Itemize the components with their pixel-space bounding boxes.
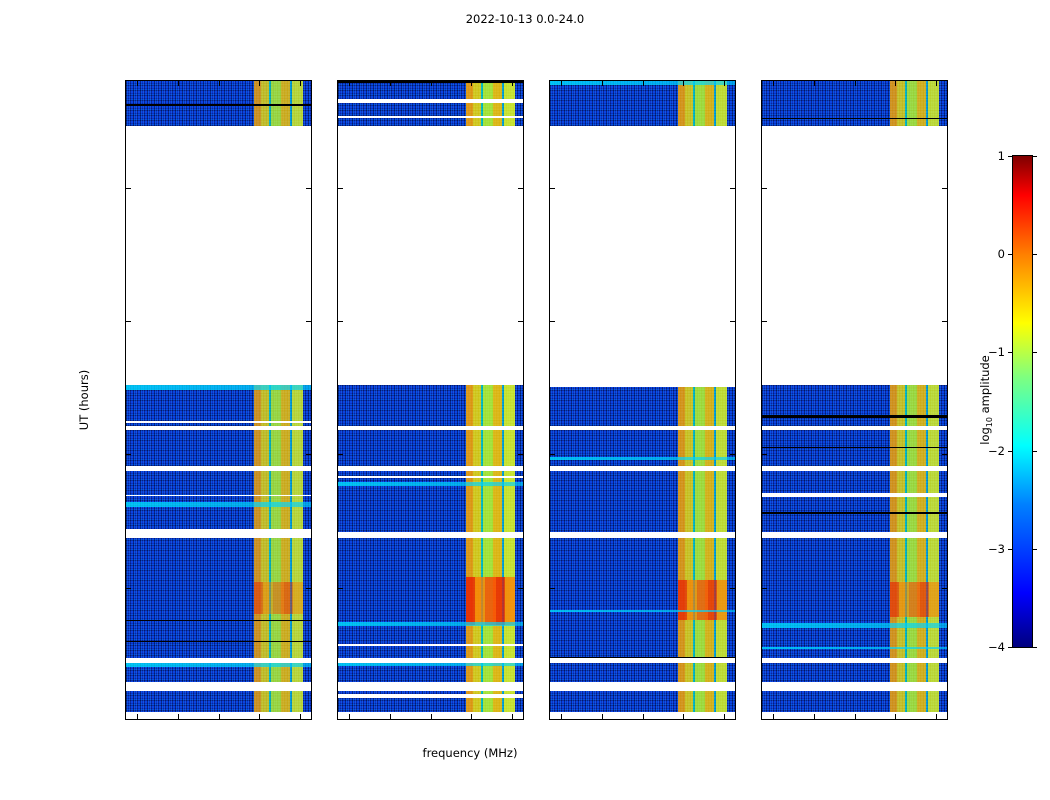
bright-scan-row xyxy=(550,457,735,461)
panel-yx[interactable]: YX, V4*V17=EA03*EA21 0510152032033535036… xyxy=(761,80,948,720)
no-data-region xyxy=(338,126,523,385)
y-tick-right-10 xyxy=(518,454,524,455)
flagged-gap-wide xyxy=(338,466,523,471)
x-tick-top-335 xyxy=(814,80,815,86)
data-block xyxy=(338,81,523,126)
x-tick-320 xyxy=(137,714,138,720)
flagged-gap-wide xyxy=(550,466,735,471)
colorbar-label: log10 amplitude xyxy=(978,355,994,445)
y-tick-10 xyxy=(125,454,131,455)
flagged-gap xyxy=(762,493,947,497)
colorbar-tick-0 xyxy=(1008,254,1013,255)
bright-scan-row xyxy=(126,385,311,390)
colorbar-tick-1 xyxy=(1008,156,1013,157)
colorbar-tick--2 xyxy=(1008,451,1013,452)
y-tick-5 xyxy=(125,588,131,589)
x-tick-top-335 xyxy=(390,80,391,86)
data-block xyxy=(126,385,311,720)
colorbar-label-tail: amplitude xyxy=(978,355,992,417)
rfi-hotspot xyxy=(466,577,515,625)
x-tick-top-350 xyxy=(643,80,644,86)
colorbar-tick--4 xyxy=(1008,647,1013,648)
x-tick-335 xyxy=(390,714,391,720)
flagged-gap xyxy=(338,644,523,647)
y-tick-right-5 xyxy=(730,588,736,589)
flagged-gap-wide xyxy=(126,658,311,663)
y-tick-5 xyxy=(337,588,343,589)
x-tick-365 xyxy=(895,714,896,720)
y-axis-label: UT (hours) xyxy=(77,370,91,430)
panel-xx-spectrogram xyxy=(126,81,311,720)
rfi-band xyxy=(466,385,515,720)
y-tick-right-10 xyxy=(730,454,736,455)
scan-boundary xyxy=(762,118,947,119)
flagged-gap-wide xyxy=(338,682,523,691)
flagged-gap-wide xyxy=(126,466,311,471)
y-tick-20 xyxy=(549,188,555,189)
y-tick-right-20 xyxy=(942,188,948,189)
y-tick-right-15 xyxy=(518,321,524,322)
no-data-region xyxy=(126,126,311,385)
x-tick-top-335 xyxy=(178,80,179,86)
y-tick-right-10 xyxy=(306,454,312,455)
x-tick-top-350 xyxy=(855,80,856,86)
x-tick-top-320 xyxy=(137,80,138,86)
y-tick-right-5 xyxy=(518,588,524,589)
bright-scan-row xyxy=(338,482,523,486)
x-tick-365 xyxy=(259,714,260,720)
data-block xyxy=(550,385,735,720)
colorbar-tick-label-0: 0 xyxy=(998,247,1005,261)
rfi-band xyxy=(254,385,303,720)
flagged-gap-wide xyxy=(762,532,947,538)
colorbar-tick-right--2 xyxy=(1032,451,1037,452)
y-tick-10 xyxy=(549,454,555,455)
x-tick-380 xyxy=(512,714,513,720)
colorbar-tick-right-1 xyxy=(1032,156,1037,157)
flagged-gap-wide xyxy=(338,658,523,663)
scan-boundary xyxy=(126,641,311,642)
scan-boundary xyxy=(762,415,947,417)
y-tick-right-5 xyxy=(306,588,312,589)
x-axis-label: frequency (MHz) xyxy=(0,746,940,760)
x-tick-top-365 xyxy=(471,80,472,86)
scan-boundary xyxy=(762,447,947,449)
flagged-gap xyxy=(550,385,735,387)
y-tick-15 xyxy=(125,321,131,322)
x-tick-top-335 xyxy=(602,80,603,86)
flagged-gap-wide xyxy=(126,426,311,430)
flagged-gap-wide xyxy=(338,426,523,430)
x-tick-350 xyxy=(643,714,644,720)
y-tick-15 xyxy=(549,321,555,322)
x-tick-top-365 xyxy=(683,80,684,86)
x-tick-365 xyxy=(683,714,684,720)
bright-scan-row xyxy=(338,663,523,666)
colorbar-tick-right--3 xyxy=(1032,549,1037,550)
x-tick-320 xyxy=(773,714,774,720)
no-data-region xyxy=(550,126,735,385)
flagged-gap xyxy=(338,694,523,699)
colorbar-tick-label--3: −3 xyxy=(988,542,1005,556)
colorbar[interactable]: 10−1−2−3−4 xyxy=(1012,155,1033,648)
flagged-gap xyxy=(338,116,523,118)
x-tick-335 xyxy=(602,714,603,720)
x-tick-top-380 xyxy=(936,80,937,86)
y-tick-15 xyxy=(337,321,343,322)
colorbar-tick--1 xyxy=(1008,352,1013,353)
x-tick-380 xyxy=(300,714,301,720)
colorbar-tick-label--2: −2 xyxy=(988,444,1005,458)
colorbar-tick-right-0 xyxy=(1032,254,1037,255)
bright-scan-row xyxy=(550,610,735,612)
scan-boundary xyxy=(126,620,311,621)
data-block xyxy=(762,81,947,126)
flagged-gap-wide xyxy=(126,532,311,538)
y-tick-20 xyxy=(337,188,343,189)
colorbar-tick-label--4: −4 xyxy=(988,640,1005,654)
bright-scan-row xyxy=(126,502,311,507)
x-tick-350 xyxy=(431,714,432,720)
rfi-band xyxy=(678,385,727,720)
flagged-gap xyxy=(126,421,311,424)
y-tick-right-20 xyxy=(730,188,736,189)
y-tick-20 xyxy=(761,188,767,189)
y-tick-5 xyxy=(549,588,555,589)
x-tick-top-380 xyxy=(300,80,301,86)
y-tick-right-15 xyxy=(730,321,736,322)
scan-boundary xyxy=(762,512,947,513)
flagged-gap-wide xyxy=(550,426,735,430)
rfi-band xyxy=(466,81,515,126)
x-tick-320 xyxy=(561,714,562,720)
x-tick-top-365 xyxy=(895,80,896,86)
panel-xx[interactable]: XX, V4*V17=EA03*EA21 0510152032033535036… xyxy=(125,80,312,720)
x-tick-350 xyxy=(855,714,856,720)
x-tick-335 xyxy=(178,714,179,720)
data-block xyxy=(762,385,947,720)
y-tick-right-5 xyxy=(942,588,948,589)
figure-canvas: 2022-10-13 0.0-24.0 UT (hours) frequency… xyxy=(0,0,1050,800)
x-tick-top-320 xyxy=(561,80,562,86)
colorbar-tick-label-1: 1 xyxy=(998,149,1005,163)
bright-scan-row xyxy=(762,623,947,628)
colorbar-label-main: log xyxy=(978,427,992,445)
panel-yy[interactable]: YY, V4*V17=EA03*EA21 0510152032033535036… xyxy=(337,80,524,720)
data-block xyxy=(550,81,735,126)
y-tick-right-20 xyxy=(306,188,312,189)
flagged-gap-wide xyxy=(550,682,735,691)
colorbar-tick-right--1 xyxy=(1032,352,1037,353)
panel-xy[interactable]: XY, V4*V17=EA03*EA21 0510152032033535036… xyxy=(549,80,736,720)
data-block xyxy=(126,81,311,126)
x-tick-top-320 xyxy=(773,80,774,86)
flagged-gap-wide xyxy=(762,682,947,691)
flagged-gap-wide xyxy=(126,682,311,691)
x-tick-top-380 xyxy=(724,80,725,86)
x-tick-335 xyxy=(814,714,815,720)
y-tick-10 xyxy=(337,454,343,455)
panel-yx-spectrogram xyxy=(762,81,947,720)
colorbar-tick--3 xyxy=(1008,549,1013,550)
data-block xyxy=(338,385,523,720)
rfi-band xyxy=(678,81,727,126)
y-tick-right-15 xyxy=(942,321,948,322)
flagged-gap-wide xyxy=(550,658,735,663)
x-tick-350 xyxy=(219,714,220,720)
panel-xy-spectrogram xyxy=(550,81,735,720)
x-tick-365 xyxy=(471,714,472,720)
rfi-band xyxy=(890,81,939,126)
x-tick-380 xyxy=(936,714,937,720)
y-tick-10 xyxy=(761,454,767,455)
scan-boundary xyxy=(126,104,311,106)
no-data-region xyxy=(762,126,947,385)
x-tick-380 xyxy=(724,714,725,720)
flagged-gap-wide xyxy=(550,532,735,538)
bright-scan-row xyxy=(338,622,523,625)
y-tick-5 xyxy=(761,588,767,589)
flagged-gap-wide xyxy=(338,532,523,538)
rfi-band xyxy=(890,385,939,720)
flagged-gap-wide xyxy=(762,466,947,471)
flagged-gap xyxy=(338,99,523,102)
rfi-hotspot xyxy=(890,582,939,617)
rfi-hotspot xyxy=(254,582,303,614)
figure-suptitle: 2022-10-13 0.0-24.0 xyxy=(0,12,1050,26)
y-tick-15 xyxy=(761,321,767,322)
x-tick-top-365 xyxy=(259,80,260,86)
x-tick-top-380 xyxy=(512,80,513,86)
y-tick-right-15 xyxy=(306,321,312,322)
colorbar-label-sub: 10 xyxy=(985,417,994,427)
bright-scan-row xyxy=(762,647,947,649)
flagged-gap xyxy=(338,476,523,478)
flagged-gap xyxy=(126,495,311,497)
x-tick-320 xyxy=(349,714,350,720)
y-tick-20 xyxy=(125,188,131,189)
panel-yy-spectrogram xyxy=(338,81,523,720)
bright-scan-row xyxy=(126,663,311,667)
flagged-gap-wide xyxy=(762,426,947,430)
x-tick-top-320 xyxy=(349,80,350,86)
flagged-gap-wide xyxy=(762,658,947,663)
x-tick-top-350 xyxy=(431,80,432,86)
rfi-hotspot xyxy=(678,580,727,620)
y-tick-right-20 xyxy=(518,188,524,189)
colorbar-tick-right--4 xyxy=(1032,647,1037,648)
y-tick-right-10 xyxy=(942,454,948,455)
x-tick-top-350 xyxy=(219,80,220,86)
